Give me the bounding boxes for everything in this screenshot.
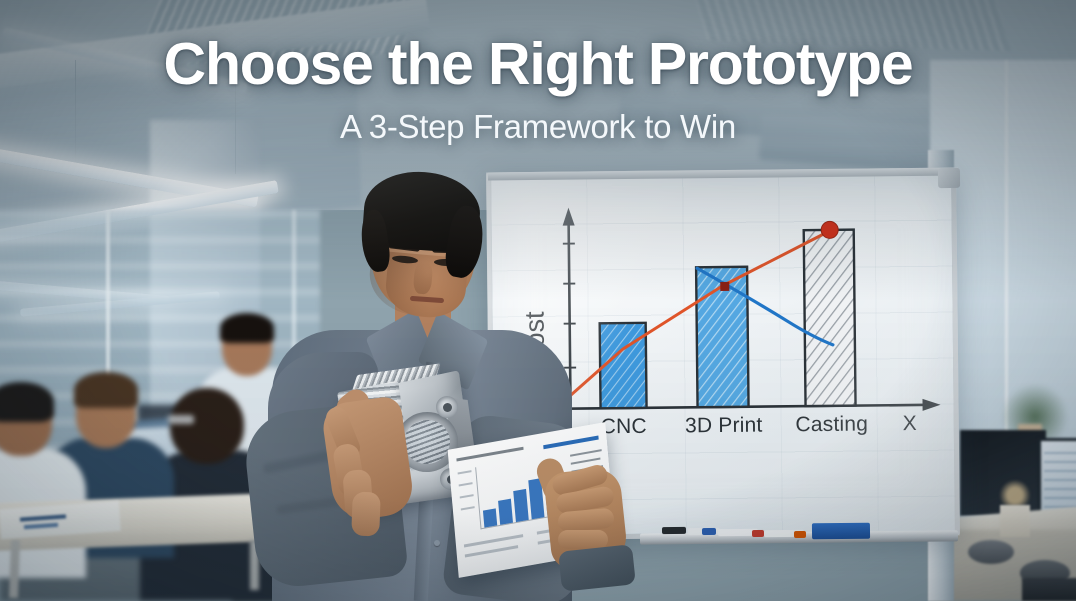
report-chart-axis	[475, 467, 481, 529]
rising-trend-line	[555, 231, 832, 408]
blue-eraser	[812, 523, 870, 540]
boss-hole	[443, 403, 452, 412]
finger	[558, 530, 608, 549]
background-person-hair	[220, 313, 274, 343]
report-text-line	[461, 506, 475, 510]
report-text-line	[570, 449, 602, 457]
pendant-wire	[235, 54, 236, 174]
report-text-line	[465, 545, 518, 557]
report-title-line	[456, 447, 523, 462]
eyeglasses	[168, 415, 194, 424]
computer-mouse	[968, 540, 1014, 564]
pendant-wire	[75, 60, 76, 170]
keyboard	[1022, 578, 1076, 601]
orange-marker	[794, 531, 806, 538]
x-tick-label-casting: Casting	[795, 412, 868, 436]
background-person-hair	[0, 382, 54, 422]
report-text-line	[571, 457, 601, 464]
report-bar	[498, 499, 513, 525]
report-bar	[513, 489, 529, 522]
shirt-cuff	[558, 544, 636, 592]
report-bar	[483, 508, 497, 527]
bar-casting	[804, 230, 856, 407]
poster-canvas: Cost CNC 3D Print Casting X	[0, 0, 1076, 601]
succulent-pot	[1000, 505, 1030, 537]
peak-marker-dot	[821, 221, 838, 238]
background-person-head	[170, 388, 244, 464]
report-text-line	[459, 482, 473, 486]
finger	[351, 492, 381, 537]
x-axis-label: X	[903, 412, 917, 435]
shirt-button	[434, 540, 440, 546]
report-text-line	[460, 494, 474, 498]
report-header-accent	[543, 435, 598, 449]
background-person-hair	[74, 372, 138, 408]
red-marker	[752, 530, 764, 537]
x-tick-label-cnc: CNC	[601, 415, 647, 438]
report-text-line	[458, 470, 472, 474]
bar-cnc	[600, 323, 647, 408]
black-marker	[662, 527, 686, 534]
blue-marker	[702, 528, 716, 535]
x-tick-label-3d-print: 3D Print	[685, 414, 763, 438]
crossover-point-marker	[720, 282, 729, 291]
whiteboard-corner-cap	[938, 168, 960, 188]
monitor-content-lines	[1044, 452, 1076, 512]
